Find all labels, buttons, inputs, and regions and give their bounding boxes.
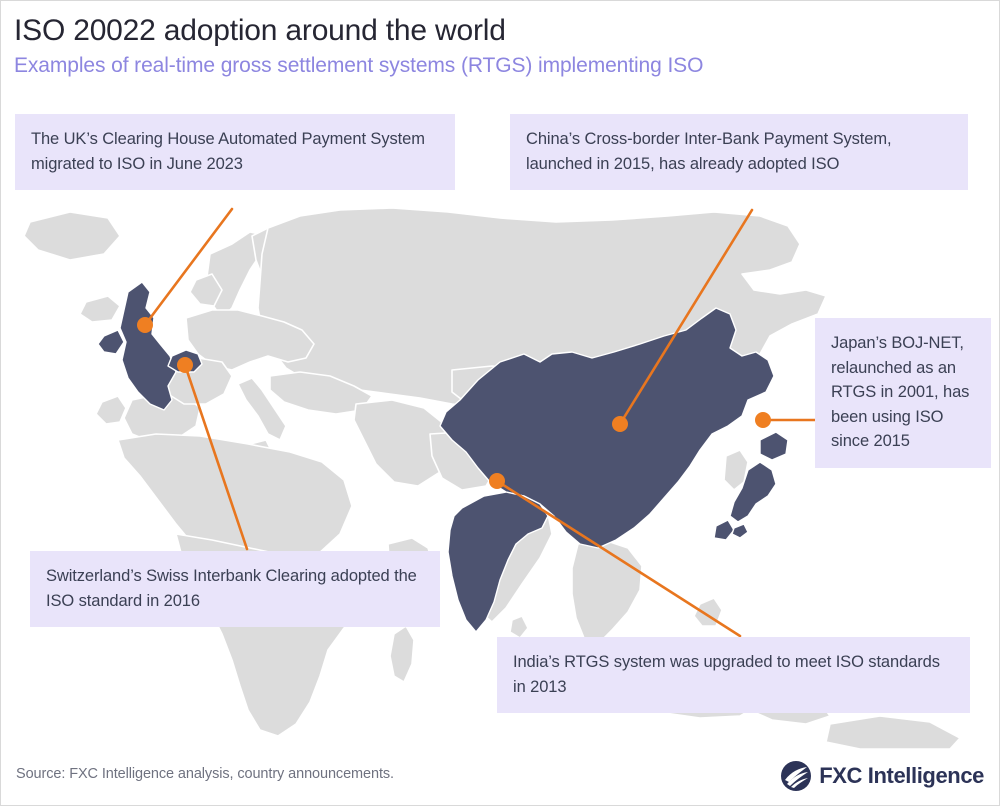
page-title: ISO 20022 adoption around the world: [14, 12, 989, 50]
country-japan-shikoku: [732, 524, 748, 538]
country-japan-hokkaido: [760, 432, 788, 460]
fxc-intelligence-logo: FXC Intelligence: [780, 760, 984, 792]
footer: Source: FXC Intelligence analysis, count…: [0, 748, 1000, 806]
logo-text: FXC Intelligence: [819, 763, 984, 789]
country-switzerland: [168, 350, 202, 372]
country-united-kingdom: [120, 282, 176, 410]
fxc-globe-icon: [780, 760, 812, 792]
header: ISO 20022 adoption around the world Exam…: [14, 12, 989, 80]
source-note: Source: FXC Intelligence analysis, count…: [16, 766, 394, 782]
callout-switzerland: Switzerland’s Swiss Interbank Clearing a…: [30, 551, 440, 627]
country-japan-kyushu: [714, 520, 734, 540]
page-subtitle: Examples of real-time gross settlement s…: [14, 52, 989, 80]
country-united-kingdom-nireland: [98, 330, 124, 354]
callout-india: India’s RTGS system was upgraded to meet…: [497, 637, 970, 713]
callout-japan: Japan’s BOJ-NET, relaunched as an RTGS i…: [815, 318, 991, 468]
callout-united-kingdom: The UK’s Clearing House Automated Paymen…: [15, 114, 455, 190]
callout-china: China’s Cross-border Inter-Bank Payment …: [510, 114, 968, 190]
